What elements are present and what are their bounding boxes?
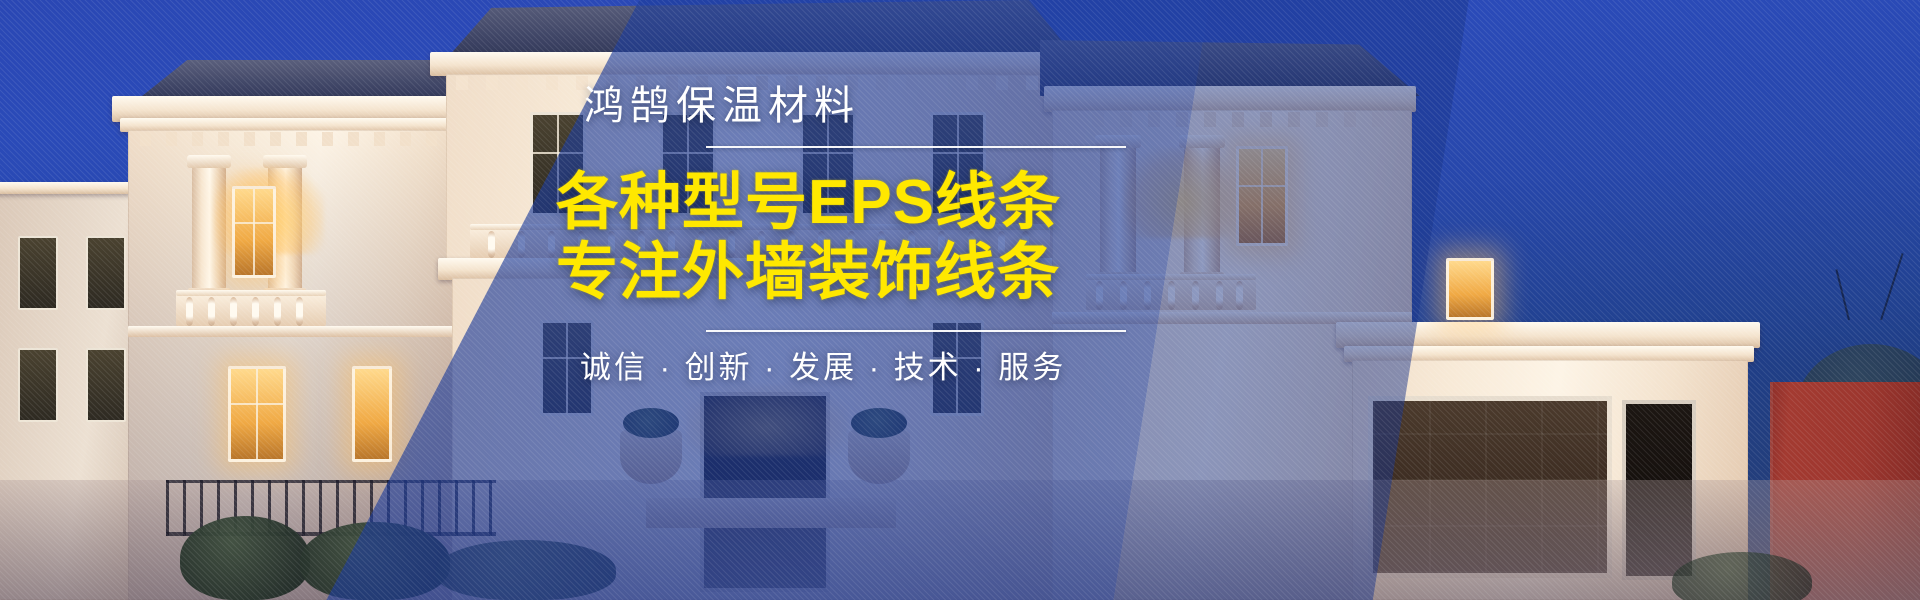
shrub-left-1 [180, 516, 310, 600]
left-pavilion-lower-window [228, 366, 286, 462]
headline: 各种型号EPS线条 专注外墙装饰线条 [556, 168, 1216, 308]
left-outbuilding-window-3 [18, 348, 58, 422]
garage-upper-window [1446, 258, 1494, 320]
left-outbuilding-window-1 [18, 236, 58, 310]
headline-line-1: 各种型号EPS线条 [556, 168, 1216, 238]
left-pavilion-lower-window-2 [352, 366, 392, 462]
divider-top [706, 146, 1126, 148]
left-pavilion-dentils [140, 132, 440, 146]
banner-copy: 鸿鹄保温材料 各种型号EPS线条 专注外墙装饰线条 诚信 · 创新 · 发展 ·… [556, 86, 1216, 383]
left-outbuilding-window-4 [86, 348, 126, 422]
left-pavilion-upper-window [232, 186, 276, 278]
divider-bottom [706, 330, 1126, 332]
company-name: 鸿鹄保温材料 [584, 86, 1216, 126]
left-pavilion-balcony [176, 290, 326, 326]
left-outbuilding-window-2 [86, 236, 126, 310]
hero-banner: 鸿鹄保温材料 各种型号EPS线条 专注外墙装饰线条 诚信 · 创新 · 发展 ·… [0, 0, 1920, 600]
left-pavilion-string-course [128, 326, 454, 337]
headline-line-2: 专注外墙装饰线条 [556, 238, 1216, 308]
tagline: 诚信 · 创新 · 发展 · 技术 · 服务 [580, 352, 1216, 383]
